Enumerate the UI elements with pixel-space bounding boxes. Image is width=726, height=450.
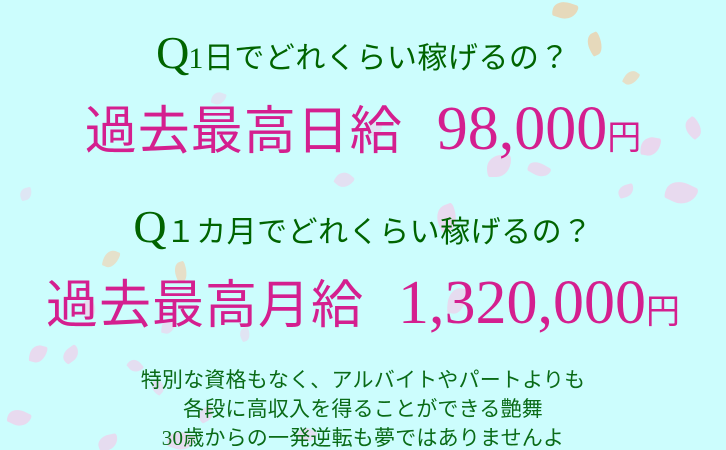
amount-daily-label: 過去最高日給 [85, 104, 403, 161]
amount-daily-value: 98,000 [437, 95, 608, 163]
amount-daily: 過去最高日給98,000円 [85, 98, 642, 160]
footnote-text: 特別な資格もなく、アルバイトやパートよりも 各段に高収入を得ることができる艶舞 … [141, 366, 586, 450]
question-2: Q１カ月でどれくらい稼げるの？ [133, 204, 592, 250]
amount-monthly-value: 1,320,000 [398, 269, 646, 337]
promo-banner: Q1日でどれくらい稼げるの？ 過去最高日給98,000円 Q１カ月でどれくらい稼… [0, 0, 726, 450]
banner-content: Q1日でどれくらい稼げるの？ 過去最高日給98,000円 Q１カ月でどれくらい稼… [0, 0, 726, 450]
footnote-line-1: 特別な資格もなく、アルバイトやパートよりも [141, 366, 586, 395]
question-marker-icon: Q [156, 27, 188, 78]
footnote-line-2: 各段に高収入を得ることができる艶舞 [141, 395, 586, 424]
amount-monthly-label: 過去最高月給 [46, 278, 364, 335]
footnote-line-3: 30歳からの一発逆転も夢ではありませんよ [141, 424, 586, 450]
question-marker-icon: Q [133, 201, 165, 252]
question-2-text: １カ月でどれくらい稼げるの？ [166, 216, 593, 249]
amount-monthly-unit: 円 [646, 294, 680, 331]
amount-daily-unit: 円 [607, 120, 641, 157]
question-1: Q1日でどれくらい稼げるの？ [156, 30, 570, 76]
question-1-text: 1日でどれくらい稼げるの？ [188, 42, 570, 75]
amount-monthly: 過去最高月給1,320,000円 [46, 272, 680, 334]
